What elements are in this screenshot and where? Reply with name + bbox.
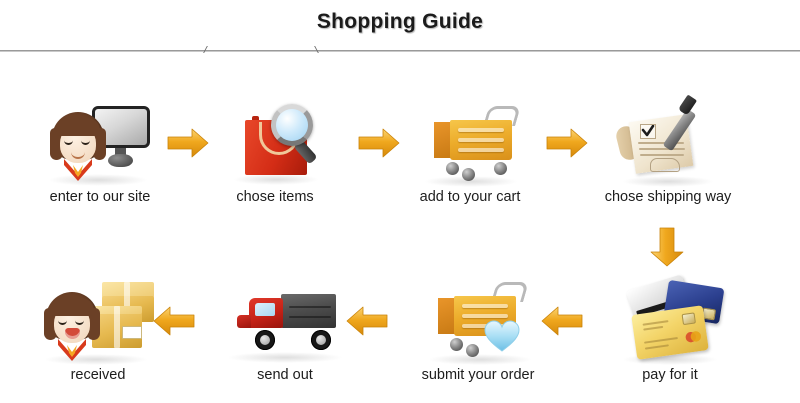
step-submit-order[interactable]: submit your order (398, 270, 558, 383)
credit-cards-icon (590, 270, 750, 365)
page-header: Shopping Guide (0, 0, 800, 56)
shopping-bag-magnifier-icon (195, 92, 355, 187)
flow-row-top: enter to our site chose items (0, 92, 800, 222)
header-divider (0, 50, 800, 52)
step-enter-site[interactable]: enter to our site (20, 92, 180, 205)
shopping-cart-icon (390, 92, 550, 187)
arrow-left-icon (345, 304, 389, 338)
step-label: pay for it (590, 367, 750, 383)
cart-with-heart-icon (398, 270, 558, 365)
step-label: add to your cart (390, 189, 550, 205)
step-label: received (18, 367, 178, 383)
step-label: chose shipping way (588, 189, 748, 205)
step-add-to-cart[interactable]: add to your cart (390, 92, 550, 205)
page-title: Shopping Guide (0, 10, 800, 34)
document-pen-icon (588, 92, 748, 187)
arrow-left-icon (540, 304, 584, 338)
step-chose-shipping[interactable]: chose shipping way (588, 92, 748, 205)
girl-with-monitor-icon (20, 92, 180, 187)
step-label: submit your order (398, 367, 558, 383)
step-label: send out (205, 367, 365, 383)
arrow-left-icon (152, 304, 196, 338)
step-label: enter to our site (20, 189, 180, 205)
step-pay-for-it[interactable]: pay for it (590, 270, 750, 383)
step-label: chose items (195, 189, 355, 205)
flow-row-bottom: received send out (0, 262, 800, 387)
step-send-out[interactable]: send out (205, 270, 365, 383)
delivery-truck-icon (205, 270, 365, 365)
arrow-right-icon (545, 126, 589, 160)
step-chose-items[interactable]: chose items (195, 92, 355, 205)
